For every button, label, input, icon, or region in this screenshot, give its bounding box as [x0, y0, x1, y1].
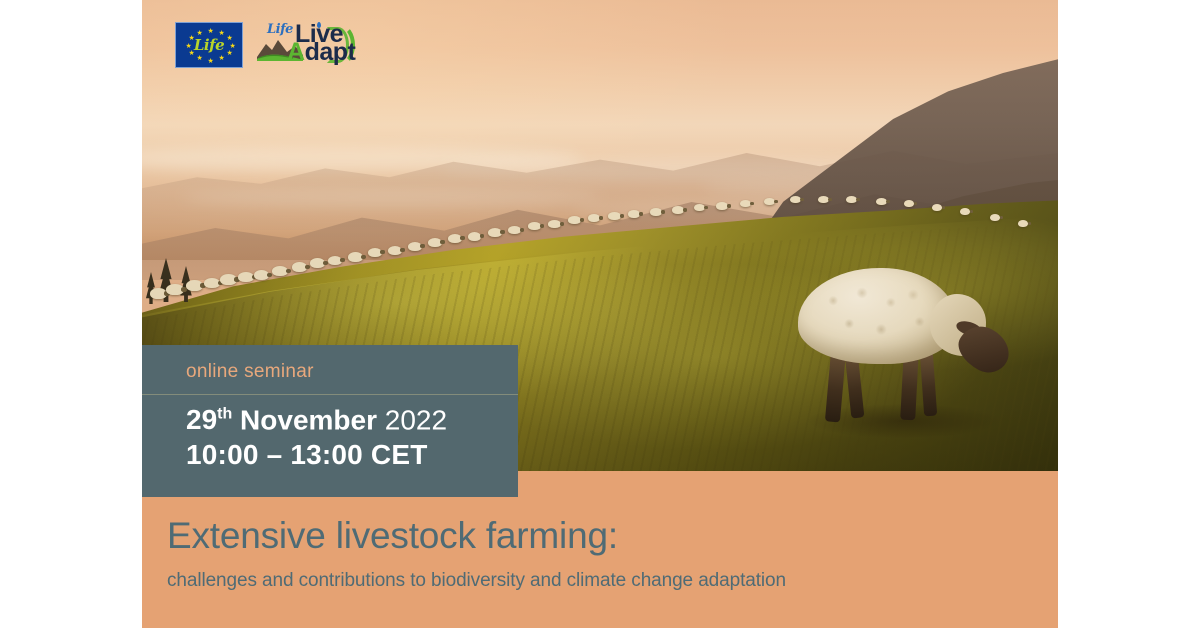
event-date: 29th November 2022 — [186, 399, 518, 436]
eu-star-icon: ★ — [219, 31, 224, 36]
distant-sheep — [588, 214, 600, 222]
distant-sheep — [568, 216, 581, 224]
distant-sheep — [292, 262, 307, 272]
foreground-sheep — [790, 258, 1020, 438]
eu-star-icon: ★ — [208, 29, 213, 34]
event-details-panel: online seminar 29th November 2022 10:00 … — [142, 345, 518, 497]
distant-sheep — [716, 202, 728, 210]
distant-sheep — [740, 200, 751, 207]
distant-sheep — [904, 200, 914, 207]
adapt-wordmark: Adapt — [287, 38, 355, 67]
distant-sheep — [508, 226, 521, 234]
distant-sheep — [272, 266, 288, 276]
eu-life-logo: ★★★★★★★★★★★★ Life — [175, 22, 243, 68]
distant-sheep — [764, 198, 775, 205]
distant-sheep — [204, 278, 220, 288]
eu-star-icon: ★ — [197, 56, 202, 61]
distant-sheep — [328, 256, 342, 265]
eu-star-icon: ★ — [208, 59, 213, 64]
panel-divider — [142, 394, 518, 395]
adapt-rest: dapt — [305, 38, 356, 66]
distant-sheep — [468, 232, 481, 241]
distant-sheep — [448, 234, 462, 243]
distant-sheep — [1018, 220, 1028, 227]
distant-sheep — [238, 272, 254, 282]
distant-sheep — [628, 210, 640, 218]
distant-sheep — [150, 288, 167, 299]
event-time: 10:00 – 13:00 CET — [186, 439, 518, 471]
distant-sheep — [548, 220, 561, 228]
eu-star-icon: ★ — [219, 56, 224, 61]
distant-sheep — [650, 208, 662, 216]
eu-life-wordmark: Life — [176, 36, 242, 54]
distant-sheep — [368, 248, 382, 257]
event-date-year: 2022 — [385, 404, 447, 435]
distant-sheep — [186, 280, 203, 291]
distant-sheep — [166, 284, 184, 295]
distant-sheep — [846, 196, 857, 203]
adapt-initial: A — [287, 38, 305, 66]
logo-row: ★★★★★★★★★★★★ Life Life Live Adapt — [175, 22, 353, 68]
distant-sheep — [388, 246, 402, 255]
eu-star-icon: ★ — [197, 31, 202, 36]
date-ordinal-suffix: th — [217, 406, 232, 423]
page-title: Extensive livestock farming: — [167, 515, 1058, 557]
distant-sheep — [528, 222, 541, 230]
distant-sheep — [254, 270, 269, 280]
distant-sheep — [488, 228, 502, 237]
event-date-day: 29th — [186, 404, 232, 435]
distant-sheep — [694, 204, 705, 211]
page-subtitle: challenges and contributions to biodiver… — [167, 569, 1058, 593]
event-date-month: November — [240, 404, 377, 435]
distant-sheep — [790, 196, 801, 203]
distant-sheep — [876, 198, 887, 205]
distant-sheep — [990, 214, 1000, 221]
distant-sheep — [608, 212, 621, 220]
distant-sheep — [818, 196, 829, 203]
distant-sheep — [408, 242, 422, 251]
distant-sheep — [932, 204, 942, 211]
distant-sheep — [672, 206, 684, 214]
event-kicker: online seminar — [186, 361, 518, 383]
life-script-wordmark: Life — [267, 22, 293, 37]
distant-sheep — [220, 274, 237, 285]
distant-sheep — [310, 258, 325, 268]
life-live-adapt-logo: Life Live Adapt — [257, 23, 353, 67]
seminar-poster: ★★★★★★★★★★★★ Life Life Live Adapt online… — [142, 0, 1058, 628]
distant-sheep — [428, 238, 442, 247]
distant-sheep — [348, 252, 363, 262]
distant-sheep — [960, 208, 970, 215]
